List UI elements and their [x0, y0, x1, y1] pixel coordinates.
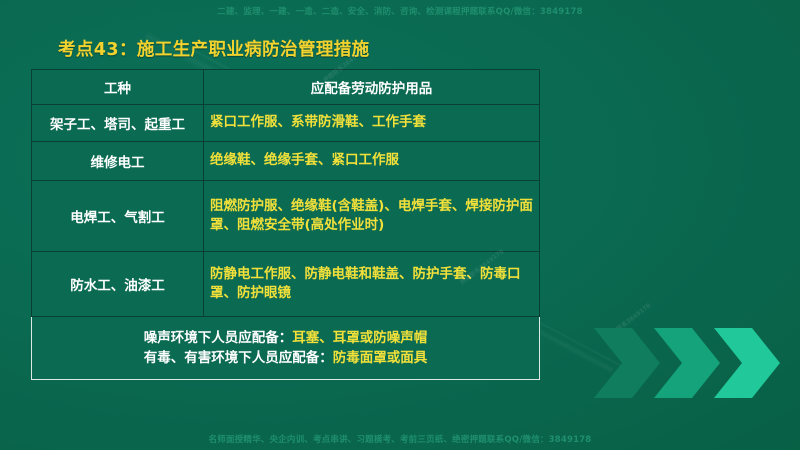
table-note-row: 噪声环境下人员应配备：耳塞、耳罩或防噪声帽 有毒、有害环境下人员应配备：防毒面罩… [32, 317, 540, 380]
cell-job: 维修电工 [32, 142, 204, 181]
cell-ppe: 防静电工作服、防静电鞋和鞋盖、防护手套、防毒口罩、防护眼镜 [204, 252, 540, 317]
chevrons-right-icon [592, 324, 782, 402]
ppe-table: 工种 应配备劳动防护用品 架子工、塔司、起重工 紧口工作服、系带防滑鞋、工作手套… [31, 69, 540, 380]
cell-ppe: 阻燃防护服、绝缘鞋(含鞋盖)、电焊手套、焊接防护面罩、阻燃安全带(高处作业时) [204, 181, 540, 252]
cell-job: 电焊工、气割工 [32, 181, 204, 252]
ppe-table-container: 工种 应配备劳动防护用品 架子工、塔司、起重工 紧口工作服、系带防滑鞋、工作手套… [31, 69, 539, 380]
table-row: 维修电工 绝缘鞋、绝缘手套、紧口工作服 [32, 142, 540, 181]
page-title: 考点43：施工生产职业病防治管理措施 [58, 36, 370, 61]
slide-canvas: 二建、监理、一建、一造、二造、安全、消防、咨询、检测课程押题联系QQ/微信：38… [0, 0, 800, 450]
note-line: 有毒、有害环境下人员应配备：防毒面罩或面具 [38, 348, 533, 368]
bottom-promo-banner: 名师面授精华、央企内训、考点串讲、习题模考、考前三页纸、绝密押题联系QQ/微信：… [0, 433, 800, 445]
table-row: 架子工、塔司、起重工 紧口工作服、系带防滑鞋、工作手套 [32, 105, 540, 142]
note-label: 有毒、有害环境下人员应配备： [144, 350, 333, 366]
table-row: 电焊工、气割工 阻燃防护服、绝缘鞋(含鞋盖)、电焊手套、焊接防护面罩、阻燃安全带… [32, 181, 540, 252]
column-header-ppe: 应配备劳动防护用品 [204, 70, 540, 105]
cell-job: 架子工、塔司、起重工 [32, 105, 204, 142]
cell-ppe: 绝缘鞋、绝缘手套、紧口工作服 [204, 142, 540, 181]
top-promo-banner: 二建、监理、一建、一造、二造、安全、消防、咨询、检测课程押题联系QQ/微信：38… [0, 5, 800, 17]
cell-job: 防水工、油漆工 [32, 252, 204, 317]
note-label: 噪声环境下人员应配备： [144, 330, 293, 346]
table-header-row: 工种 应配备劳动防护用品 [32, 70, 540, 105]
note-line: 噪声环境下人员应配备：耳塞、耳罩或防噪声帽 [38, 328, 533, 348]
table-row: 防水工、油漆工 防静电工作服、防静电鞋和鞋盖、防护手套、防毒口罩、防护眼镜 [32, 252, 540, 317]
column-header-job: 工种 [32, 70, 204, 105]
note-value: 防毒面罩或面具 [333, 350, 428, 366]
cell-notes: 噪声环境下人员应配备：耳塞、耳罩或防噪声帽 有毒、有害环境下人员应配备：防毒面罩… [32, 317, 540, 380]
cell-ppe: 紧口工作服、系带防滑鞋、工作手套 [204, 105, 540, 142]
note-value: 耳塞、耳罩或防噪声帽 [292, 330, 427, 346]
